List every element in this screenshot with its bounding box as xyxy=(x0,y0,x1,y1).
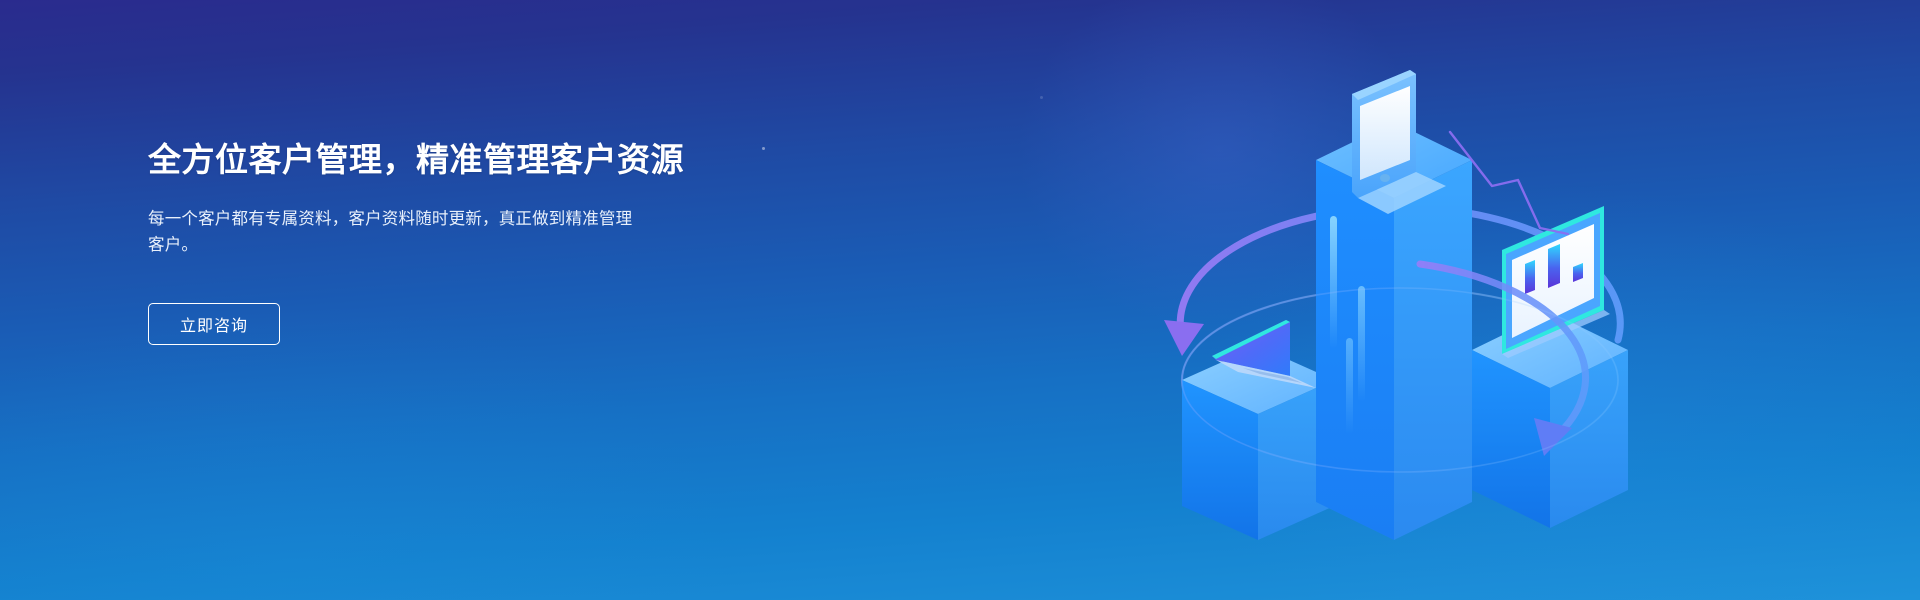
page-title: 全方位客户管理，精准管理客户资源 xyxy=(148,140,788,180)
sparkle-dot xyxy=(1040,96,1043,99)
hero-banner: 全方位客户管理，精准管理客户资源 每一个客户都有专属资料，客户资料随时更新，真正… xyxy=(0,0,1920,600)
hero-copy: 全方位客户管理，精准管理客户资源 每一个客户都有专属资料，客户资料随时更新，真正… xyxy=(148,140,788,345)
background-glow-bottom xyxy=(0,300,740,600)
consult-now-button[interactable]: 立即咨询 xyxy=(148,303,280,345)
hero-illustration xyxy=(1120,20,1680,580)
hero-subtitle: 每一个客户都有专属资料，客户资料随时更新，真正做到精准管理客户。 xyxy=(148,206,634,258)
column-right xyxy=(1472,312,1628,528)
